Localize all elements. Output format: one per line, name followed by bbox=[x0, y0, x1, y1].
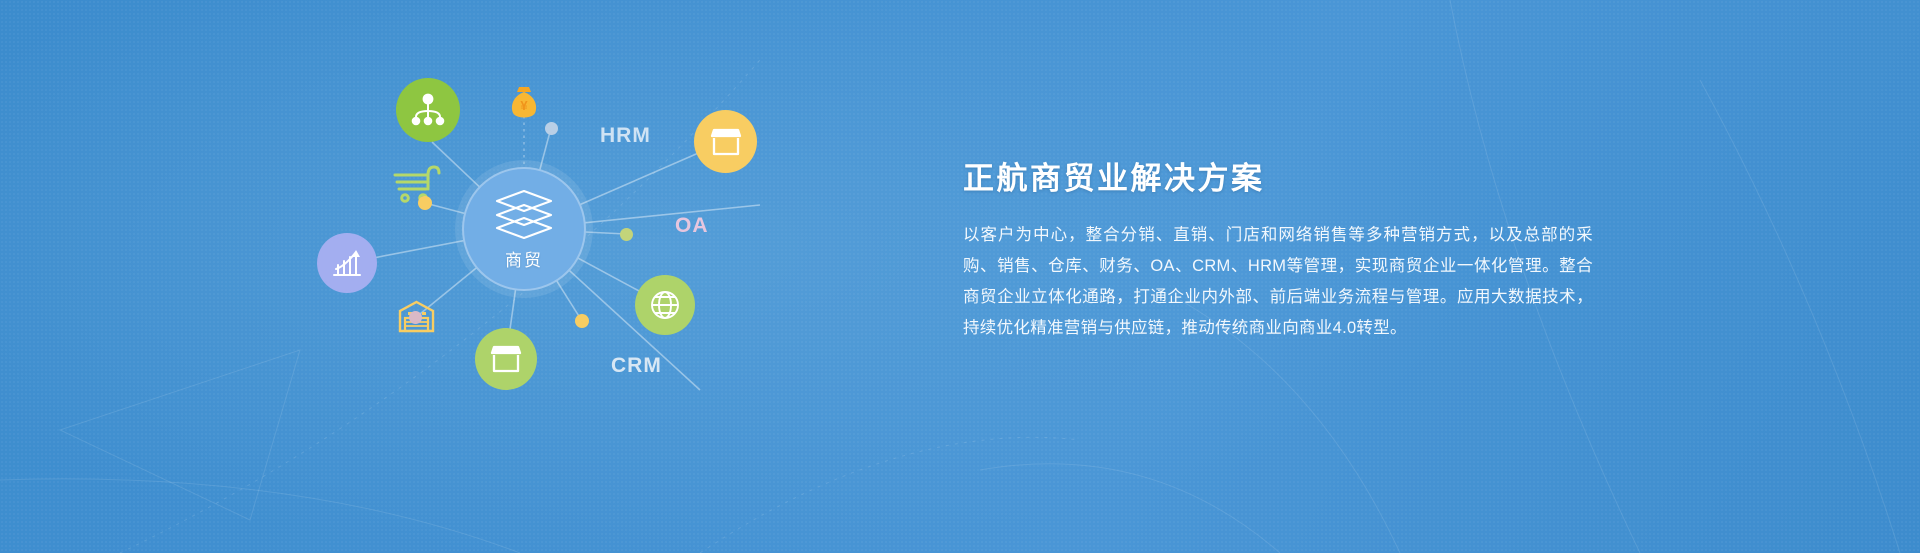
text-block: 正航商贸业解决方案 以客户为中心，整合分销、直销、门店和网络销售等多种营销方式，… bbox=[963, 160, 1593, 344]
solution-diagram: 商贸 bbox=[0, 0, 960, 553]
page-title: 正航商贸业解决方案 bbox=[963, 160, 1593, 197]
node-org-structure[interactable] bbox=[396, 78, 460, 142]
center-node-commerce[interactable]: 商贸 bbox=[462, 167, 586, 291]
bar-chart-icon bbox=[331, 248, 363, 278]
label-crm: CRM bbox=[611, 354, 662, 378]
svg-text:¥: ¥ bbox=[520, 98, 528, 113]
node-storefront[interactable] bbox=[694, 110, 757, 173]
connector-dot bbox=[409, 311, 422, 324]
storefront-icon bbox=[709, 127, 743, 157]
connector-dot bbox=[418, 196, 432, 210]
connector-dot bbox=[575, 314, 589, 328]
org-chart-icon bbox=[410, 93, 446, 127]
node-network[interactable] bbox=[635, 275, 695, 335]
node-analytics[interactable] bbox=[317, 233, 377, 293]
shop-icon bbox=[489, 344, 523, 374]
node-shop[interactable] bbox=[475, 328, 537, 390]
page-description: 以客户为中心，整合分销、直销、门店和网络销售等多种营销方式，以及总部的采购、销售… bbox=[963, 220, 1593, 344]
money-bag-icon: ¥ bbox=[508, 84, 540, 125]
label-hrm: HRM bbox=[600, 124, 651, 148]
center-node-label: 商贸 bbox=[505, 246, 543, 271]
shopping-cart-icon bbox=[392, 163, 442, 213]
diagram-links bbox=[0, 0, 960, 553]
connector-dot bbox=[620, 228, 633, 241]
connector-dot bbox=[545, 122, 558, 135]
label-oa: OA bbox=[675, 214, 709, 238]
globe-grid-icon bbox=[649, 289, 681, 321]
solution-banner: 商贸 bbox=[0, 0, 1920, 553]
layers-icon bbox=[493, 188, 555, 240]
